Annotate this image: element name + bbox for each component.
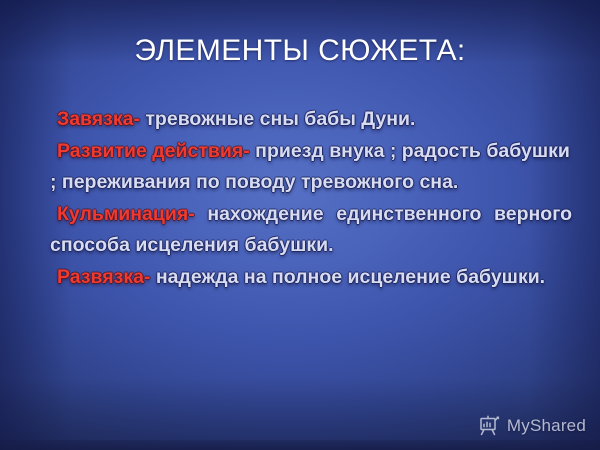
myshared-label: MyShared <box>507 416 586 436</box>
plot-element-label: Завязка- <box>57 108 140 130</box>
plot-element-label: Развитие действия- <box>57 140 250 162</box>
slide-title: ЭЛЕМЕНТЫ СЮЖЕТА: <box>0 34 600 68</box>
slide-body: Завязка- тревожные сны бабы Дуни. Развит… <box>30 104 572 293</box>
plot-element-label: Развязка- <box>57 266 150 288</box>
presentation-slide: ЭЛЕМЕНТЫ СЮЖЕТА: Завязка- тревожные сны … <box>0 0 600 450</box>
presentation-chart-icon <box>477 414 501 438</box>
plot-element-item: Кульминация- нахождение единственного ве… <box>30 199 572 262</box>
plot-element-label: Кульминация- <box>57 203 195 225</box>
plot-element-item: Развязка- надежда на полное исцеление ба… <box>30 262 572 294</box>
plot-element-item: Развитие действия- приезд внука ; радост… <box>30 136 572 199</box>
plot-element-text: надежда на полное исцеление бабушки. <box>150 266 545 288</box>
bottom-edge-band <box>0 440 600 450</box>
plot-element-text: тревожные сны бабы Дуни. <box>140 108 416 130</box>
myshared-watermark[interactable]: MyShared <box>477 414 586 438</box>
plot-element-item: Завязка- тревожные сны бабы Дуни. <box>30 104 572 136</box>
